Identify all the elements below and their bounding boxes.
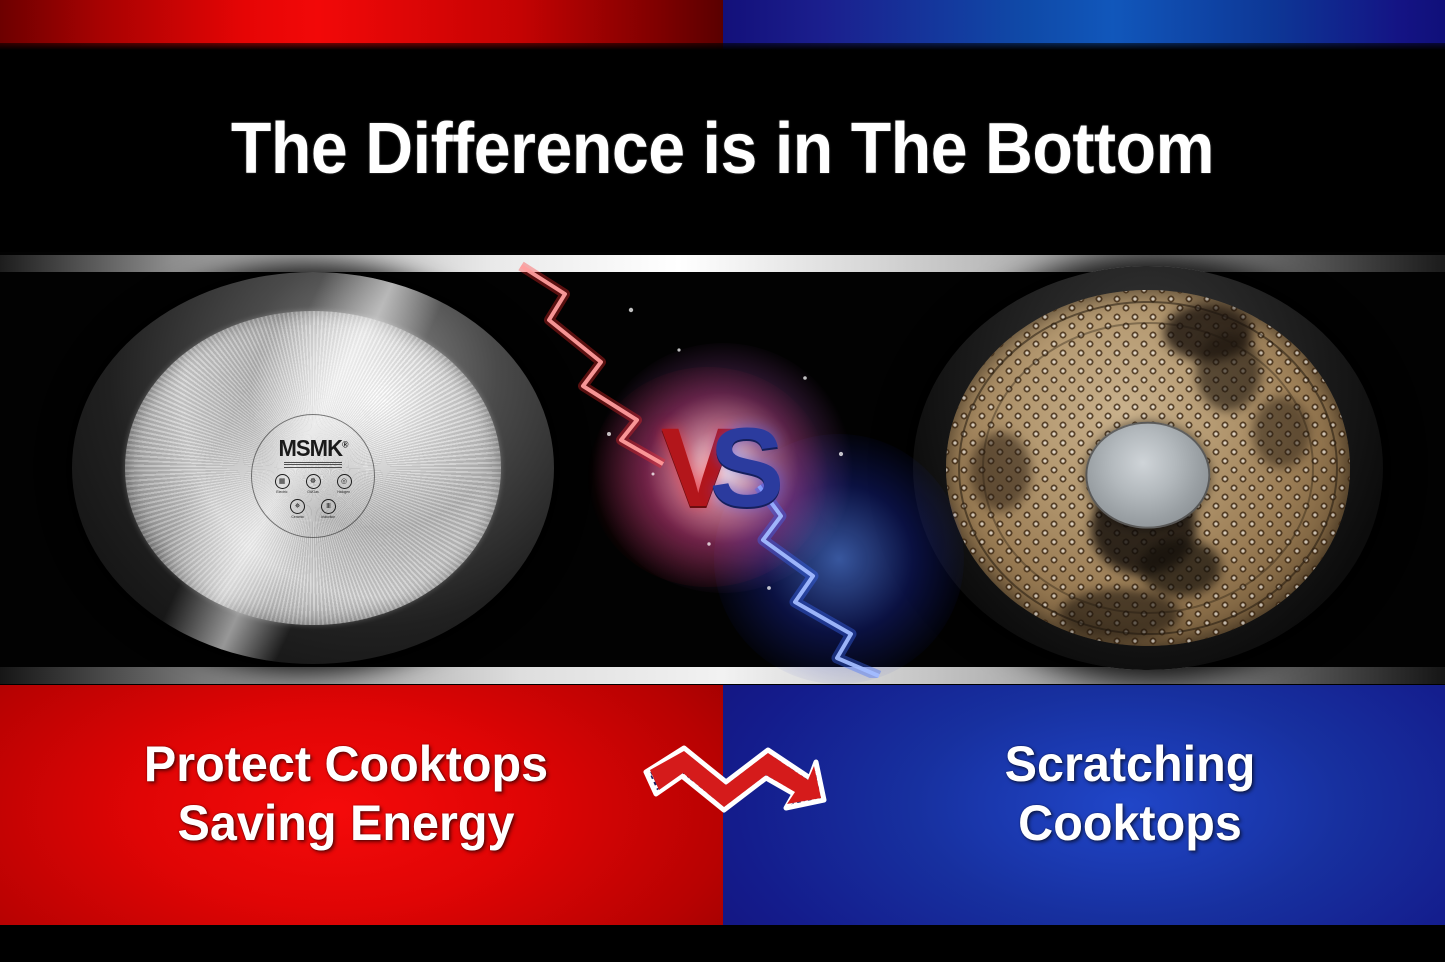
left-caption: Protect Cooktops Saving Energy [55,735,637,853]
compat-icon-halogen: ◎ Halogen [332,474,356,494]
brand-wordmark: MSMK® [278,437,347,460]
white-core-glow [593,343,853,593]
halogen-icon-label: Halogen [338,490,351,494]
comparison-infographic: The Difference is in The Bottom MSMK® ▦ … [0,0,1445,962]
oil-gas-icon-label: Oil/Gas [307,490,318,494]
ceramic-icon-label: Ceramic [291,515,304,519]
compat-icon-electric: ▦ Electric [270,474,294,494]
dirty-pan-plate [946,290,1350,646]
versus-v: V [661,405,736,530]
dirty-pan-burn-lower [1140,539,1221,596]
top-color-band [0,0,1445,50]
spark-dots [607,308,843,590]
electric-icon: ▦ [275,474,290,489]
left-caption-line1: Protect Cooktops [55,735,637,794]
right-caption: Scratching Cooktops [902,735,1358,853]
blue-lightning-glow [759,486,879,676]
oil-gas-icon: ☸ [306,474,321,489]
brand-trademark: ® [342,439,347,449]
dirty-pan-centre-disc [1085,422,1210,529]
lightning-bolts [513,258,933,678]
compat-icon-ceramic: ✵ Ceramic [286,499,310,519]
brand-rule-lines [284,462,342,470]
induction-icon-label: Induction [322,515,336,519]
top-band-blue-half [723,0,1445,50]
induction-icon: Ⅲ [321,499,336,514]
electric-icon-label: Electric [276,490,287,494]
right-caption-line2: Cooktops [902,794,1358,853]
compat-icon-row-bottom: ✵ Ceramic Ⅲ Induction [286,499,341,519]
product-photo-strip: MSMK® ▦ Electric ☸ Oil/Gas ◎ Haloge [0,252,1445,684]
clean-pan-photo: MSMK® ▦ Electric ☸ Oil/Gas ◎ Haloge [72,272,554,664]
red-glow [588,367,828,587]
halogen-icon: ◎ [337,474,352,489]
dirty-pan-stain-bottom [1059,589,1180,639]
brand-badge: MSMK® ▦ Electric ☸ Oil/Gas ◎ Haloge [251,414,375,538]
dirty-pan-stain-left [970,432,1031,510]
brand-wordmark-text: MSMK [278,435,342,461]
top-band-red-half [0,0,723,50]
zigzag-arrow-icon [640,738,830,832]
ceramic-icon: ✵ [290,499,305,514]
blue-lightning-bolt [759,486,879,676]
dirty-pan-photo [913,266,1383,670]
dirty-pan-stain-right [1253,397,1310,468]
versus-burst: VS [513,258,933,678]
dirty-pan-stain-upper-right [1196,333,1261,411]
page-title: The Difference is in The Bottom [58,108,1387,190]
left-caption-line2: Saving Energy [55,794,637,853]
compat-icon-row-top: ▦ Electric ☸ Oil/Gas ◎ Halogen [270,474,356,494]
versus-label: VS [661,412,784,524]
versus-s: S [710,405,785,530]
right-caption-line1: Scratching [902,735,1358,794]
compat-icon-induction: Ⅲ Induction [317,499,341,519]
compat-icon-oil-gas: ☸ Oil/Gas [301,474,325,494]
